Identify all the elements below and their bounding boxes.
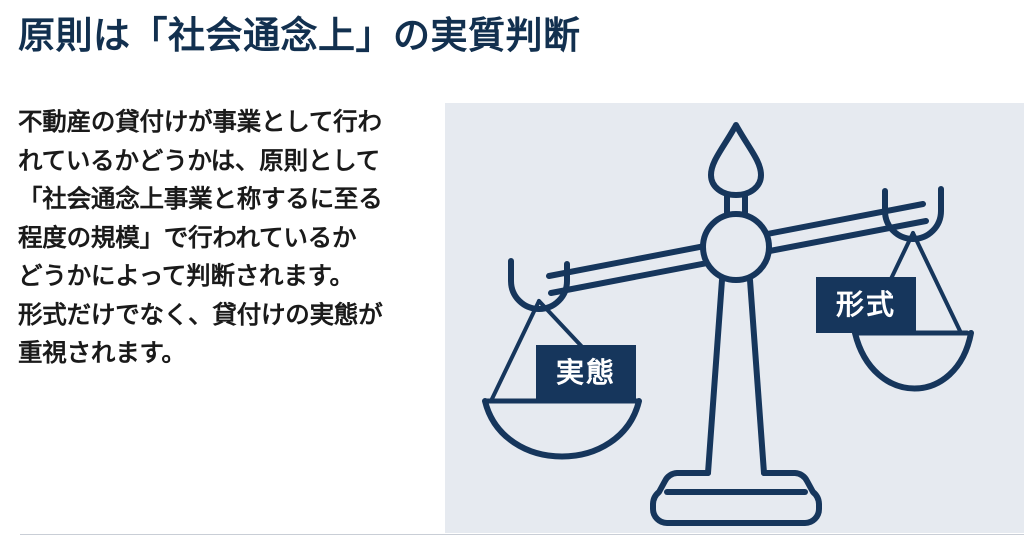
illustration-panel: 実態 形式: [445, 103, 1024, 533]
base-plinth: [653, 473, 819, 523]
left-string-a: [491, 301, 539, 401]
body-column: 不動産の貸付けが事業として行わ れているかどうかは、原則として 「社会通念上事業…: [18, 104, 430, 404]
finial-shape: [711, 125, 761, 195]
slide-root: 原則は「社会通念上」の実質判断 不動産の貸付けが事業として行わ れているかどうか…: [0, 0, 1024, 547]
stem-right-edge: [750, 280, 764, 473]
page-title: 原則は「社会通念上」の実質判断: [18, 12, 958, 60]
right-pan-bowl: [855, 333, 971, 389]
left-pan-bowl: [485, 401, 639, 457]
right-pan-label: 形式: [816, 277, 916, 333]
pivot-circle: [703, 214, 769, 280]
bottom-divider: [20, 534, 1024, 535]
left-pan-label: 実態: [536, 345, 636, 401]
balance-scale-icon: [445, 103, 1024, 533]
right-string-b: [913, 233, 961, 333]
body-paragraph: 不動産の貸付けが事業として行わ れているかどうかは、原則として 「社会通念上事業…: [18, 104, 430, 374]
stem-left-edge: [708, 280, 722, 473]
